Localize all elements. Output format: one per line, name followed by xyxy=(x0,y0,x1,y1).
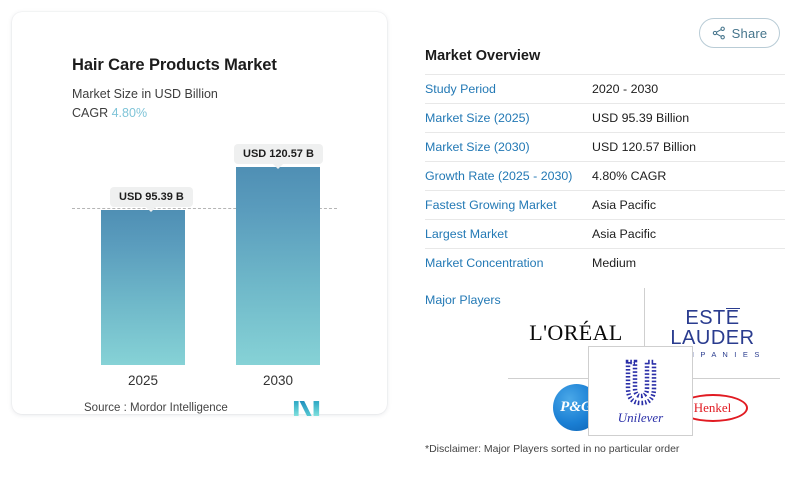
source-label: Source : xyxy=(84,402,127,414)
table-row: Growth Rate (2025 - 2030) 4.80% CAGR xyxy=(425,161,785,190)
row-value: 2020 - 2030 xyxy=(592,82,658,96)
table-row: Fastest Growing Market Asia Pacific xyxy=(425,190,785,219)
share-button-label: Share xyxy=(732,26,768,41)
table-row: Study Period 2020 - 2030 xyxy=(425,74,785,103)
row-key: Market Size (2025) xyxy=(425,111,592,125)
table-row: Market Size (2030) USD 120.57 Billion xyxy=(425,132,785,161)
share-button[interactable]: Share xyxy=(699,18,780,48)
chart-source: Source : Mordor Intelligence xyxy=(84,402,228,414)
unilever-u-icon xyxy=(615,357,667,409)
estee-logo-line2: LAUDER xyxy=(663,328,761,348)
share-icon xyxy=(712,26,726,40)
bar-chart-plot: USD 95.39 B USD 120.57 B 2025 2030 xyxy=(12,12,387,414)
row-key: Market Size (2030) xyxy=(425,140,592,154)
henkel-logo-text: Henkel xyxy=(694,400,732,416)
loreal-logo-text: L'ORÉAL xyxy=(529,320,623,346)
row-value: Asia Pacific xyxy=(592,198,656,212)
row-key: Growth Rate (2025 - 2030) xyxy=(425,169,592,183)
disclaimer-text: *Disclaimer: Major Players sorted in no … xyxy=(425,443,679,455)
player-logo-unilever: Unilever xyxy=(588,346,693,436)
row-value: 4.80% CAGR xyxy=(592,169,666,183)
major-players-logo-grid: L'ORÉAL ESTE LAUDER C O M P A N I E S P&… xyxy=(508,288,780,436)
estee-logo-line1: ESTE xyxy=(663,308,761,328)
x-axis-label-2030: 2030 xyxy=(236,373,320,388)
row-key: Fastest Growing Market xyxy=(425,198,592,212)
bar-2025[interactable] xyxy=(101,210,185,365)
table-row: Market Concentration Medium xyxy=(425,248,785,277)
page-root: Share Hair Care Products Market Market S… xyxy=(0,0,800,482)
row-key: Largest Market xyxy=(425,227,592,241)
market-overview-panel: Market Overview Study Period 2020 - 2030… xyxy=(425,48,785,277)
row-value: USD 95.39 Billion xyxy=(592,111,689,125)
chart-card: Hair Care Products Market Market Size in… xyxy=(12,12,387,414)
bar-label-2030: USD 120.57 B xyxy=(234,144,323,164)
unilever-logo-text: Unilever xyxy=(618,410,663,426)
bar-2030[interactable] xyxy=(236,167,320,365)
row-value: USD 120.57 Billion xyxy=(592,140,696,154)
bar-label-2025: USD 95.39 B xyxy=(110,187,193,207)
row-key: Market Concentration xyxy=(425,256,592,270)
x-axis-label-2025: 2025 xyxy=(101,373,185,388)
source-name: Mordor Intelligence xyxy=(130,402,228,414)
table-row: Largest Market Asia Pacific xyxy=(425,219,785,248)
row-value: Asia Pacific xyxy=(592,227,656,241)
mordor-intelligence-logo-icon xyxy=(293,400,321,417)
table-row: Market Size (2025) USD 95.39 Billion xyxy=(425,103,785,132)
market-overview-title: Market Overview xyxy=(425,48,785,64)
row-value: Medium xyxy=(592,256,636,270)
major-players-label: Major Players xyxy=(425,293,501,307)
row-key: Study Period xyxy=(425,82,592,96)
